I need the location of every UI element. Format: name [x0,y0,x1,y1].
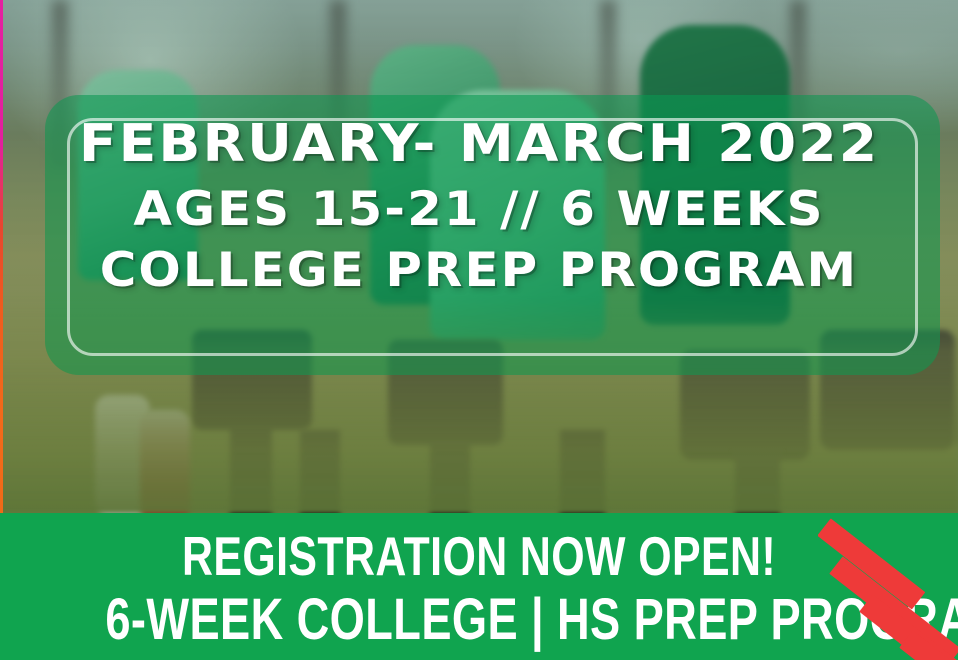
hero-line-ages-duration: AGES 15-21 // 6 WEEKS [0,186,958,233]
red-diagonal-stripes-decoration [818,513,958,660]
left-edge-color-strip [0,0,3,513]
cta-band-text: REGISTRATION NOW OPEN! 6-WEEK COLLEGE | … [0,527,958,651]
cta-band: REGISTRATION NOW OPEN! 6-WEEK COLLEGE | … [0,513,958,660]
hero-line-dates: FEBRUARY- MARCH 2022 [0,118,958,170]
cta-registration-open: REGISTRATION NOW OPEN! [105,527,852,585]
promo-flyer: FEBRUARY- MARCH 2022 AGES 15-21 // 6 WEE… [0,0,958,660]
cta-program-subtitle: 6-WEEK COLLEGE | HS PREP PROGRAM [105,589,852,650]
hero-headline: FEBRUARY- MARCH 2022 AGES 15-21 // 6 WEE… [0,118,958,294]
hero-line-program-name: COLLEGE PREP PROGRAM [0,247,958,294]
